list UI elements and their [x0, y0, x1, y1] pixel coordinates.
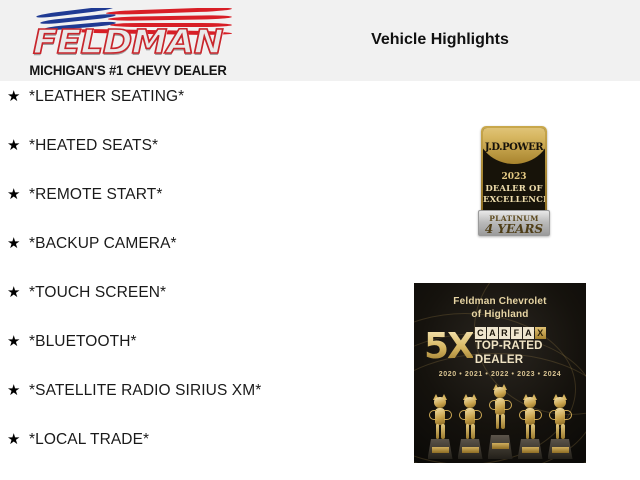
carfax-dealer-name: Feldman Chevrolet of Highland	[414, 295, 586, 321]
carfax-fox-trophy	[427, 397, 454, 459]
carfax-fox-trophy	[487, 387, 514, 459]
carfax-letter-f: F	[511, 327, 522, 339]
trophy-base	[518, 439, 543, 459]
fox-mascot-icon	[520, 397, 540, 439]
carfax-letter-c: C	[475, 327, 486, 339]
star-bullet-icon: ★	[7, 236, 29, 251]
trophy-base	[548, 439, 573, 459]
jd-power-award-badge: J.D.POWER 2023 DEALER OF EXCELLENCE PLAT…	[478, 126, 550, 236]
trophy-base	[488, 435, 513, 459]
list-item: ★ *HEATED SEATS*	[0, 137, 400, 186]
list-item-label: *BLUETOOTH*	[29, 333, 137, 351]
carfax-letter-a1: A	[487, 327, 498, 339]
trophy-base	[428, 439, 453, 459]
star-bullet-icon: ★	[7, 285, 29, 300]
carfax-award-lockup: 5X C A R F A X TOP-RATED DEALER	[424, 327, 576, 367]
dealer-name-line-1: Feldman Chevrolet	[414, 295, 586, 308]
star-bullet-icon: ★	[7, 187, 29, 202]
carfax-letter-a2: A	[523, 327, 534, 339]
jd-power-plate: J.D.POWER 2023 DEALER OF EXCELLENCE	[481, 126, 547, 216]
star-bullet-icon: ★	[7, 383, 29, 398]
list-item: ★ *LOCAL TRADE*	[0, 431, 400, 480]
list-item: ★ *BACKUP CAMERA*	[0, 235, 400, 284]
feldman-dealer-logo[interactable]: FELDMAN MICHIGAN'S #1 CHEVY DEALER	[14, 6, 242, 78]
jd-power-tier-ribbon: PLATINUM 4 YEARS	[478, 210, 550, 236]
list-item-label: *REMOTE START*	[29, 186, 162, 204]
vehicle-highlights-list: ★ *LEATHER SEATING* ★ *HEATED SEATS* ★ *…	[0, 88, 400, 480]
star-bullet-icon: ★	[7, 89, 29, 104]
carfax-fox-trophy	[517, 397, 544, 459]
fox-mascot-icon	[460, 397, 480, 439]
list-item-label: *TOUCH SCREEN*	[29, 284, 166, 302]
list-item: ★ *REMOTE START*	[0, 186, 400, 235]
carfax-award-line-1: TOP-RATED	[475, 340, 546, 353]
dealer-tagline: MICHIGAN'S #1 CHEVY DEALER	[17, 63, 238, 78]
trophy-base	[458, 439, 483, 459]
jd-power-year: 2023	[483, 172, 545, 182]
carfax-multiplier: 5X	[424, 330, 473, 364]
fox-mascot-icon	[550, 397, 570, 439]
carfax-letter-r: R	[499, 327, 510, 339]
jd-power-award-title: DEALER OF EXCELLENCE	[483, 184, 545, 205]
page-title: Vehicle Highlights	[300, 31, 580, 49]
fox-mascot-icon	[430, 397, 450, 439]
carfax-letter-x: X	[535, 327, 546, 339]
carfax-trophy-row	[424, 383, 576, 459]
carfax-fox-trophy	[457, 397, 484, 459]
fox-mascot-icon	[490, 387, 510, 435]
list-item: ★ *TOUCH SCREEN*	[0, 284, 400, 333]
carfax-award-line-2: DEALER	[475, 354, 546, 367]
list-item-label: *BACKUP CAMERA*	[29, 235, 177, 253]
dealer-name-line-2: of Highland	[414, 308, 586, 321]
list-item: ★ *BLUETOOTH*	[0, 333, 400, 382]
list-item-label: *HEATED SEATS*	[29, 137, 158, 155]
list-item: ★ *SATELLITE RADIO SIRIUS XM*	[0, 382, 400, 431]
feldman-wordmark: FELDMAN	[5, 24, 251, 60]
list-item-label: *SATELLITE RADIO SIRIUS XM*	[29, 382, 261, 400]
jd-power-logo-text: J.D.POWER	[483, 142, 545, 153]
award-line-2: EXCELLENCE	[483, 195, 545, 206]
carfax-logo-icon: C A R F A X	[475, 327, 546, 339]
carfax-top-rated-dealer-badge: Feldman Chevrolet of Highland 5X C A R F…	[414, 283, 586, 463]
list-item: ★ *LEATHER SEATING*	[0, 88, 400, 137]
list-item-label: *LEATHER SEATING*	[29, 88, 184, 106]
page-header: FELDMAN MICHIGAN'S #1 CHEVY DEALER Vehic…	[0, 0, 640, 81]
list-item-label: *LOCAL TRADE*	[29, 431, 149, 449]
carfax-award-years: 2020 • 2021 • 2022 • 2023 • 2024	[414, 371, 586, 378]
carfax-fox-trophy	[547, 397, 574, 459]
jd-power-duration-label: 4 YEARS	[479, 222, 549, 236]
award-line-1: DEALER OF	[483, 184, 545, 195]
star-bullet-icon: ★	[7, 138, 29, 153]
star-bullet-icon: ★	[7, 432, 29, 447]
star-bullet-icon: ★	[7, 334, 29, 349]
